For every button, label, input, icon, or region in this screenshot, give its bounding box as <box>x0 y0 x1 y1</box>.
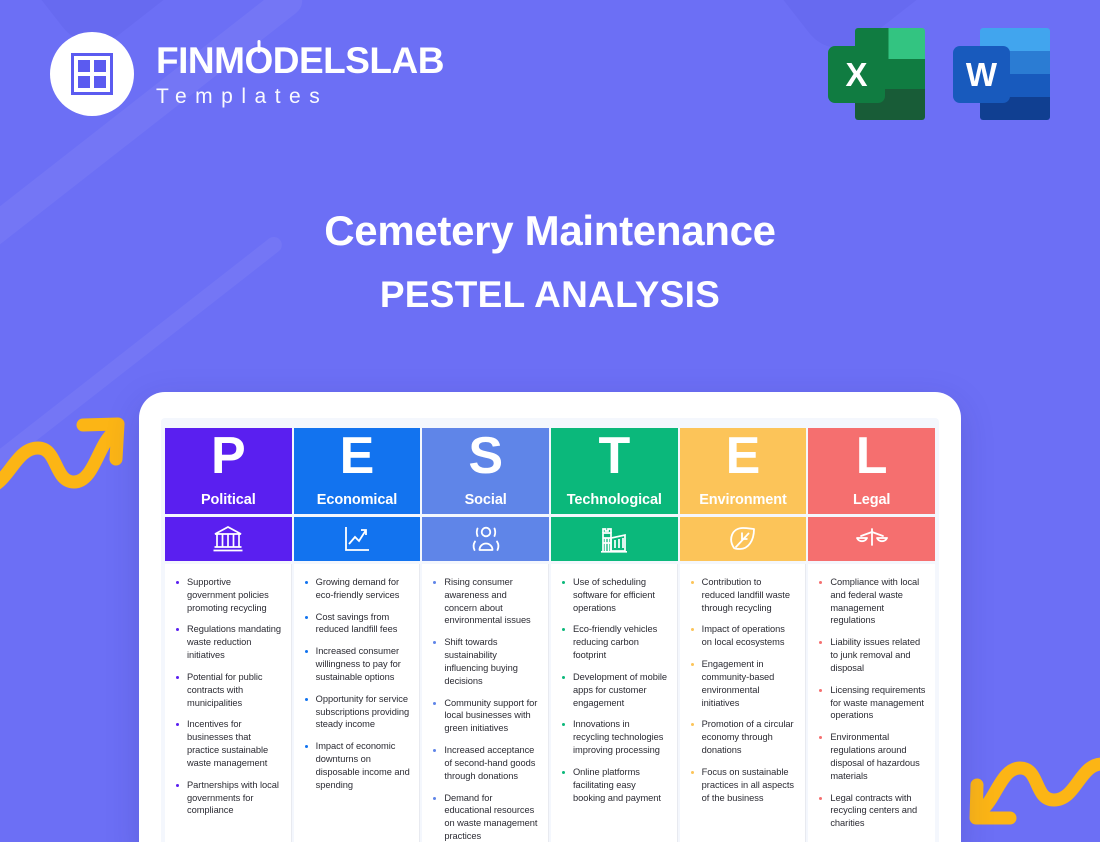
wavy-arrow-down-left-icon <box>956 752 1100 842</box>
list-item: Cost savings from reduced landfill fees <box>302 611 411 637</box>
people-group-icon <box>422 517 549 561</box>
list-item: Development of mobile apps for customer … <box>559 671 668 709</box>
line-chart-icon <box>294 517 421 561</box>
list-item: Use of scheduling software for efficient… <box>559 576 668 614</box>
grid-squares-icon <box>50 32 134 116</box>
letter-e1: E <box>294 430 421 482</box>
letter-e2: E <box>680 430 807 482</box>
list-item: Shift towards sustainability influencing… <box>430 636 539 687</box>
list-item: Environmental regulations around disposa… <box>816 731 926 782</box>
column-label-legal: Legal <box>853 493 890 508</box>
page-title: Cemetery Maintenance <box>0 207 1100 255</box>
column-label-environment: Environment <box>699 493 787 508</box>
list-item: Innovations in recycling technologies im… <box>559 718 668 756</box>
device-frame: P Political E Economical S Social T Tech… <box>139 392 961 842</box>
list-item: Impact of operations on local ecosystems <box>688 623 797 649</box>
brand-name: FINMODELSLAB <box>156 42 444 79</box>
list-item: Licensing requirements for waste managem… <box>816 684 926 722</box>
scales-balance-icon <box>808 517 935 561</box>
column-label-social: Social <box>465 493 507 508</box>
letter-l: L <box>808 430 935 482</box>
list-item: Eco-friendly vehicles reducing carbon fo… <box>559 623 668 661</box>
column-label-economical: Economical <box>317 493 397 508</box>
wavy-arrow-up-right-icon <box>0 402 132 512</box>
pestel-header-economical[interactable]: E Economical <box>294 428 421 514</box>
pestel-list-economical: Growing demand for eco-friendly services… <box>294 564 421 842</box>
list-item: Legal contracts with recycling centers a… <box>816 792 926 830</box>
list-item: Engagement in community-based environmen… <box>688 658 797 709</box>
list-item: Online platforms facilitating easy booki… <box>559 766 668 804</box>
list-item: Rising consumer awareness and concern ab… <box>430 576 539 627</box>
list-item: Growing demand for eco-friendly services <box>302 576 411 602</box>
device-screen: P Political E Economical S Social T Tech… <box>161 418 939 842</box>
letter-s: S <box>422 430 549 482</box>
word-badge-letter: W <box>953 46 1010 103</box>
pestel-list-political: Supportive government policies promoting… <box>165 564 292 842</box>
list-item: Compliance with local and federal waste … <box>816 576 926 627</box>
list-item: Liability issues related to junk removal… <box>816 636 926 674</box>
bank-columns-icon <box>165 517 292 561</box>
list-item: Focus on sustainable practices in all as… <box>688 766 797 804</box>
list-item: Supportive government policies promoting… <box>173 576 282 614</box>
pestel-header-technological[interactable]: T Technological <box>551 428 678 514</box>
word-icon[interactable]: W <box>953 28 1050 120</box>
brand-power-o: O <box>244 42 272 79</box>
excel-badge-letter: X <box>828 46 885 103</box>
poster-canvas: FINMODELSLAB Templates X W Cemetery Main… <box>0 0 1100 842</box>
column-label-political: Political <box>201 493 256 508</box>
pestel-header-legal[interactable]: L Legal <box>808 428 935 514</box>
list-item: Increased consumer willingness to pay fo… <box>302 645 411 683</box>
list-item: Increased acceptance of second-hand good… <box>430 744 539 782</box>
letter-p: P <box>165 430 292 482</box>
office-format-icons: X W <box>828 28 1050 120</box>
list-item: Impact of economic downturns on disposab… <box>302 740 411 791</box>
brand-name-part1: FINM <box>156 40 244 81</box>
list-item: Partnerships with local governments for … <box>173 779 282 817</box>
pestel-list-environment: Contribution to reduced landfill waste t… <box>680 564 807 842</box>
list-item: Demand for educational resources on wast… <box>430 792 539 842</box>
list-item: Potential for public contracts with muni… <box>173 671 282 709</box>
excel-icon[interactable]: X <box>828 28 925 120</box>
pestel-header-political[interactable]: P Political <box>165 428 292 514</box>
list-item: Regulations mandating waste reduction in… <box>173 623 282 661</box>
list-item: Contribution to reduced landfill waste t… <box>688 576 797 614</box>
brand-tagline: Templates <box>156 86 444 107</box>
pestel-list-technological: Use of scheduling software for efficient… <box>551 564 678 842</box>
letter-t: T <box>551 430 678 482</box>
pestel-list-legal: Compliance with local and federal waste … <box>808 564 935 842</box>
brand-logo[interactable]: FINMODELSLAB Templates <box>50 32 444 116</box>
list-item: Community support for local businesses w… <box>430 697 539 735</box>
list-item: Opportunity for service subscriptions pr… <box>302 693 411 731</box>
column-label-technological: Technological <box>567 493 662 508</box>
list-item: Promotion of a circular economy through … <box>688 718 797 756</box>
pestel-table: P Political E Economical S Social T Tech… <box>165 428 935 842</box>
brand-name-part2: DELSLAB <box>273 40 444 81</box>
page-subtitle: PESTEL ANALYSIS <box>0 274 1100 317</box>
pestel-header-environment[interactable]: E Environment <box>680 428 807 514</box>
list-item: Incentives for businesses that practice … <box>173 718 282 769</box>
factory-building-icon <box>551 517 678 561</box>
pestel-list-social: Rising consumer awareness and concern ab… <box>422 564 549 842</box>
pestel-header-social[interactable]: S Social <box>422 428 549 514</box>
leaf-icon <box>680 517 807 561</box>
